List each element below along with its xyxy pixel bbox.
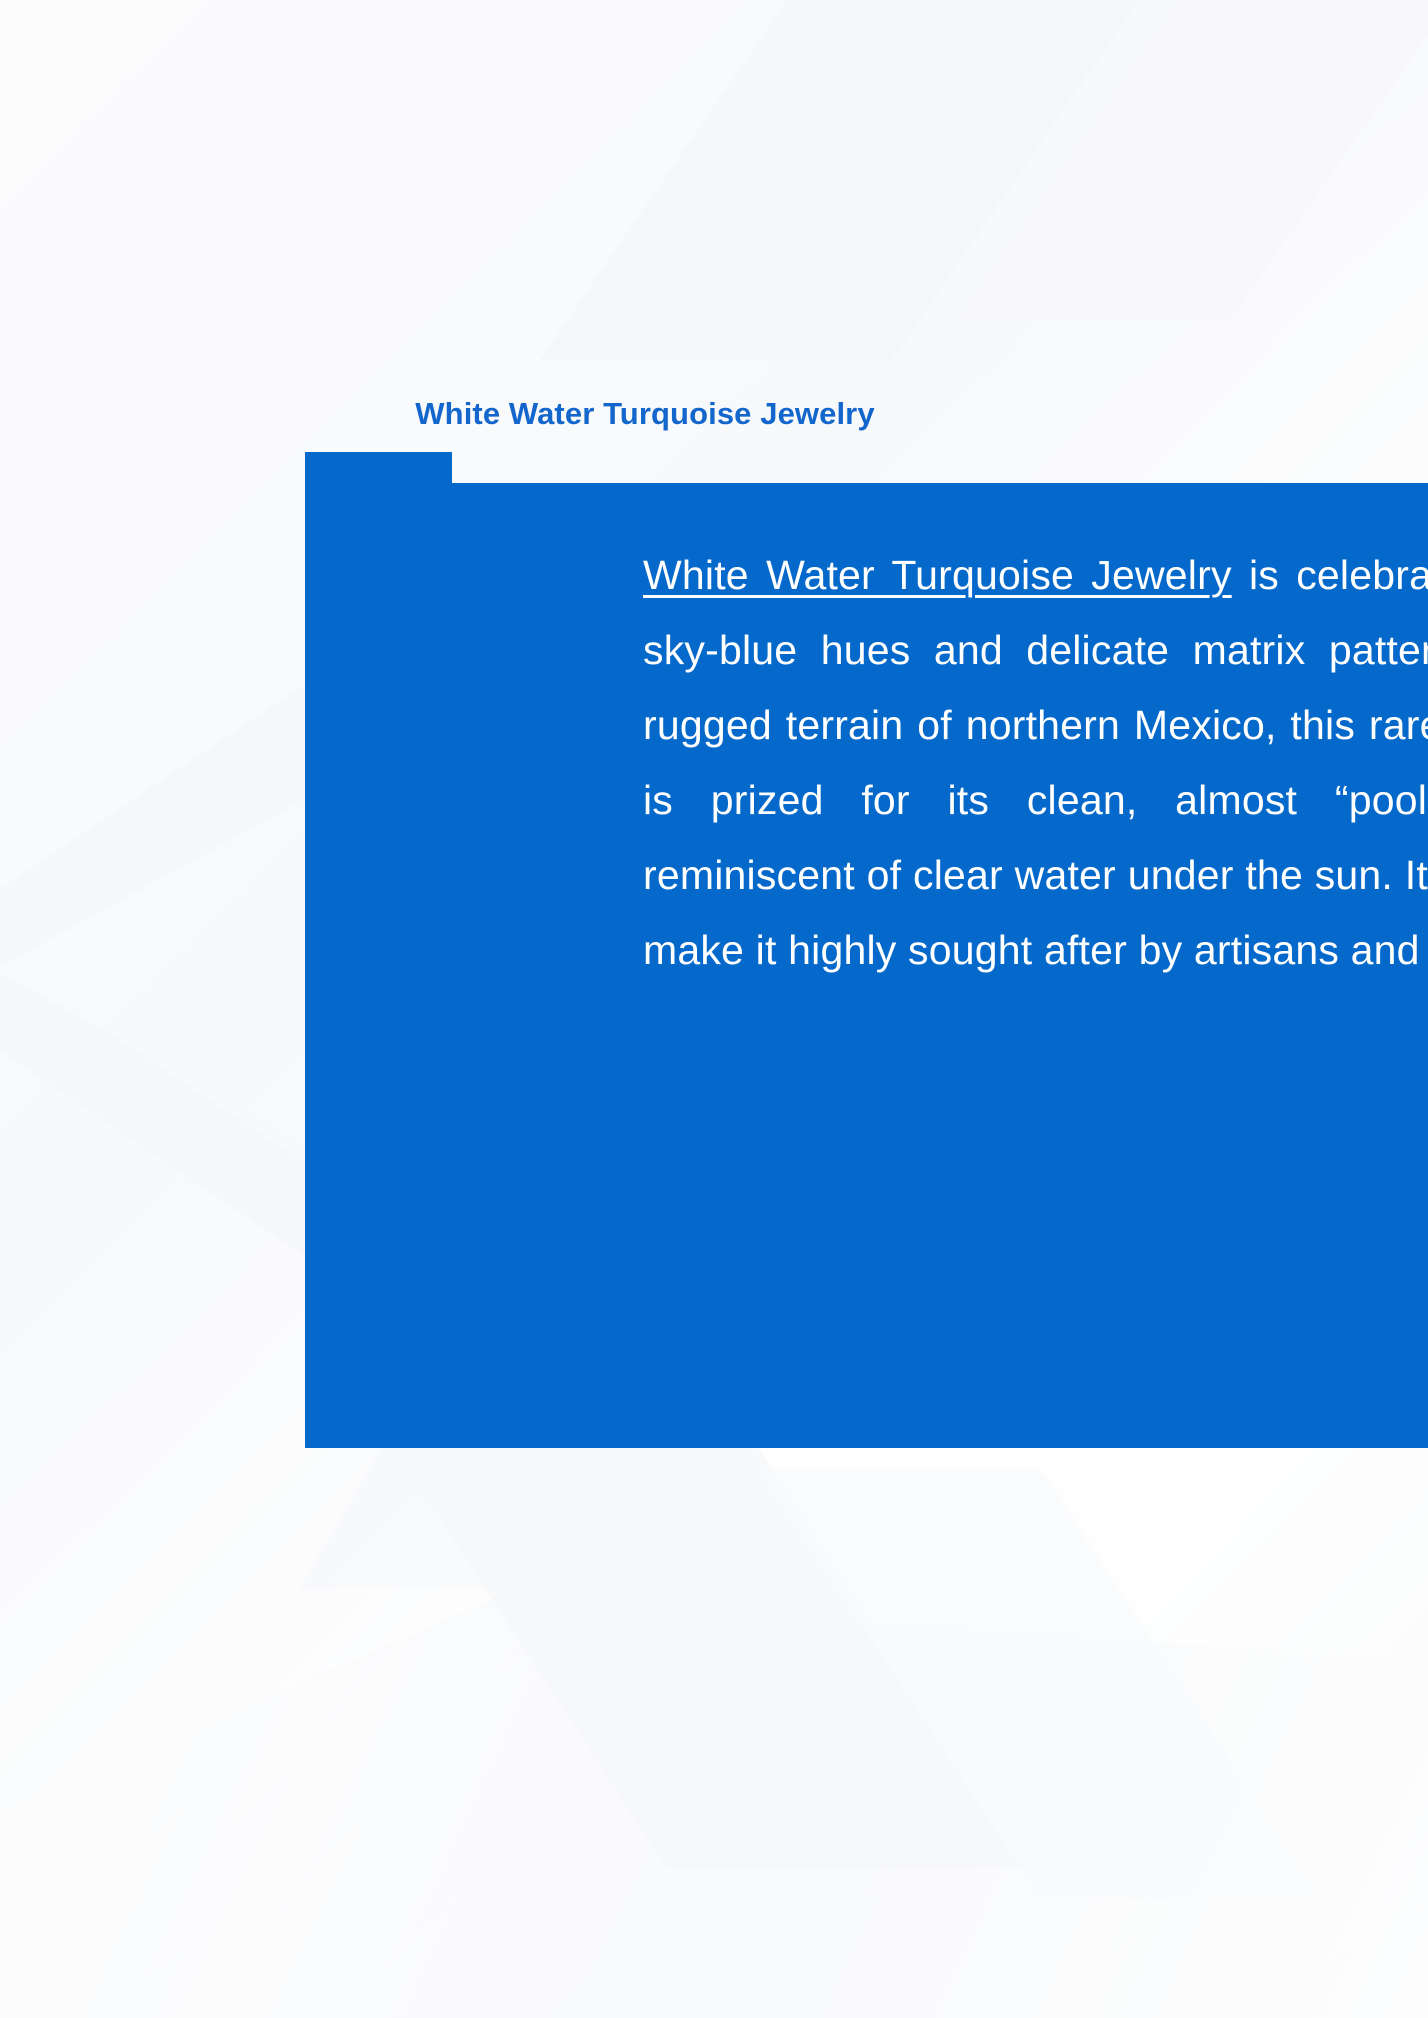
page-title: White Water Turquoise Jewelry xyxy=(0,396,1290,432)
paragraph-remainder: is celebrated for its striking sky-blue … xyxy=(643,552,1428,973)
slide-canvas: White Water Turquoise Jewelry White Wate… xyxy=(0,0,1428,2018)
turquoise-jewelry-link[interactable]: White Water Turquoise Jewelry xyxy=(643,552,1232,598)
content-panel: White Water Turquoise Jewelry is celebra… xyxy=(305,452,1428,1448)
content-paragraph: White Water Turquoise Jewelry is celebra… xyxy=(643,538,1428,988)
paragraph: White Water Turquoise Jewelry is celebra… xyxy=(643,538,1428,988)
